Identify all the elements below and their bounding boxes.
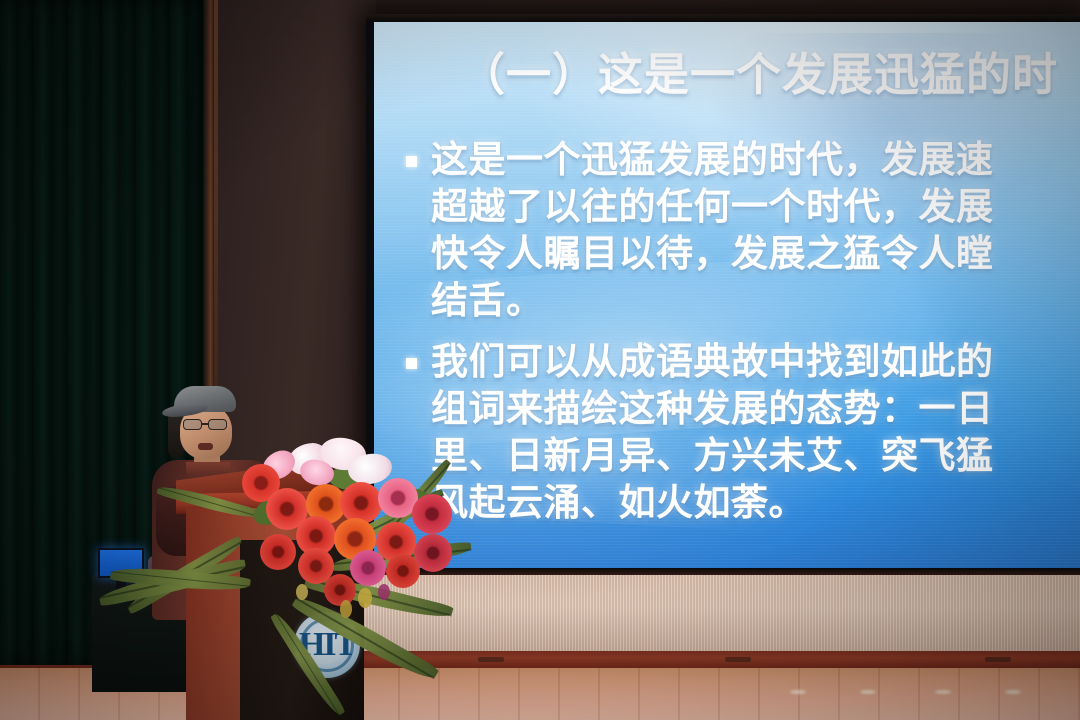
baseboard-vent (985, 657, 1011, 662)
slide-bullet-line: 快令人瞩目以待，发展之猛令人瞠 (431, 230, 994, 277)
red-gerbera (340, 482, 382, 524)
pink-gerbera (350, 550, 386, 586)
red-gerbera (260, 534, 296, 570)
slide-bullet-line: 组词来描绘这种发展的态势：一日 (431, 385, 994, 432)
speaker-mouth (198, 443, 213, 450)
baseboard-vent (725, 657, 751, 662)
flower-bud (296, 584, 308, 600)
slide-bullet-line: 结舌。 (431, 277, 994, 324)
slide-bullet-line: 里、日新月异、方兴未艾、突飞猛 (431, 432, 994, 479)
flower-bud (358, 588, 372, 608)
slide-bullet-item: 这是一个迅猛发展的时代，发展速 超越了以往的任何一个时代，发展 快令人瞩目以待，… (406, 136, 1080, 324)
slide-content: （一）这是一个发展迅猛的时 这是一个迅猛发展的时代，发展速 超越了以往的任何一个… (374, 22, 1080, 568)
slide-bullet-list: 这是一个迅猛发展的时代，发展速 超越了以往的任何一个时代，发展 快令人瞩目以待，… (406, 136, 1080, 540)
flower-arrangement (236, 438, 478, 678)
slide-bullet-text: 我们可以从成语典故中找到如此的 组词来描绘这种发展的态势：一日 里、日新月异、方… (431, 338, 994, 526)
glasses-icon (181, 419, 231, 430)
slide-bullet-line: 超越了以往的任何一个时代，发展 (431, 183, 994, 230)
flower-bud (378, 584, 390, 600)
square-bullet-icon (406, 358, 417, 369)
floor-highlight (790, 690, 806, 694)
slide-bullet-line: 这是一个迅猛发展的时代，发展速 (431, 136, 994, 183)
auditorium-photo: （一）这是一个发展迅猛的时 这是一个迅猛发展的时代，发展速 超越了以往的任何一个… (0, 0, 1080, 720)
dark-red-gerbera (412, 494, 452, 534)
red-gerbera (324, 574, 356, 606)
slide-bullet-item: 我们可以从成语典故中找到如此的 组词来描绘这种发展的态势：一日 里、日新月异、方… (406, 338, 1080, 526)
slide-bullet-line: 风起云涌、如火如荼。 (431, 479, 994, 526)
slide-bullet-text: 这是一个迅猛发展的时代，发展速 超越了以往的任何一个时代，发展 快令人瞩目以待，… (431, 136, 994, 324)
projection-screen: （一）这是一个发展迅猛的时 这是一个迅猛发展的时代，发展速 超越了以往的任何一个… (374, 22, 1080, 568)
slide-bullet-line: 我们可以从成语典故中找到如此的 (431, 338, 994, 385)
floor-highlight (1005, 690, 1021, 694)
floor-highlight (935, 690, 951, 694)
baseboard-vent (478, 657, 504, 662)
flower-bud (340, 600, 352, 618)
slide-title: （一）这是一个发展迅猛的时 (460, 52, 1058, 97)
floor-highlight (860, 690, 876, 694)
red-gerbera (386, 554, 420, 588)
dark-red-gerbera (414, 534, 452, 572)
square-bullet-icon (406, 156, 417, 167)
